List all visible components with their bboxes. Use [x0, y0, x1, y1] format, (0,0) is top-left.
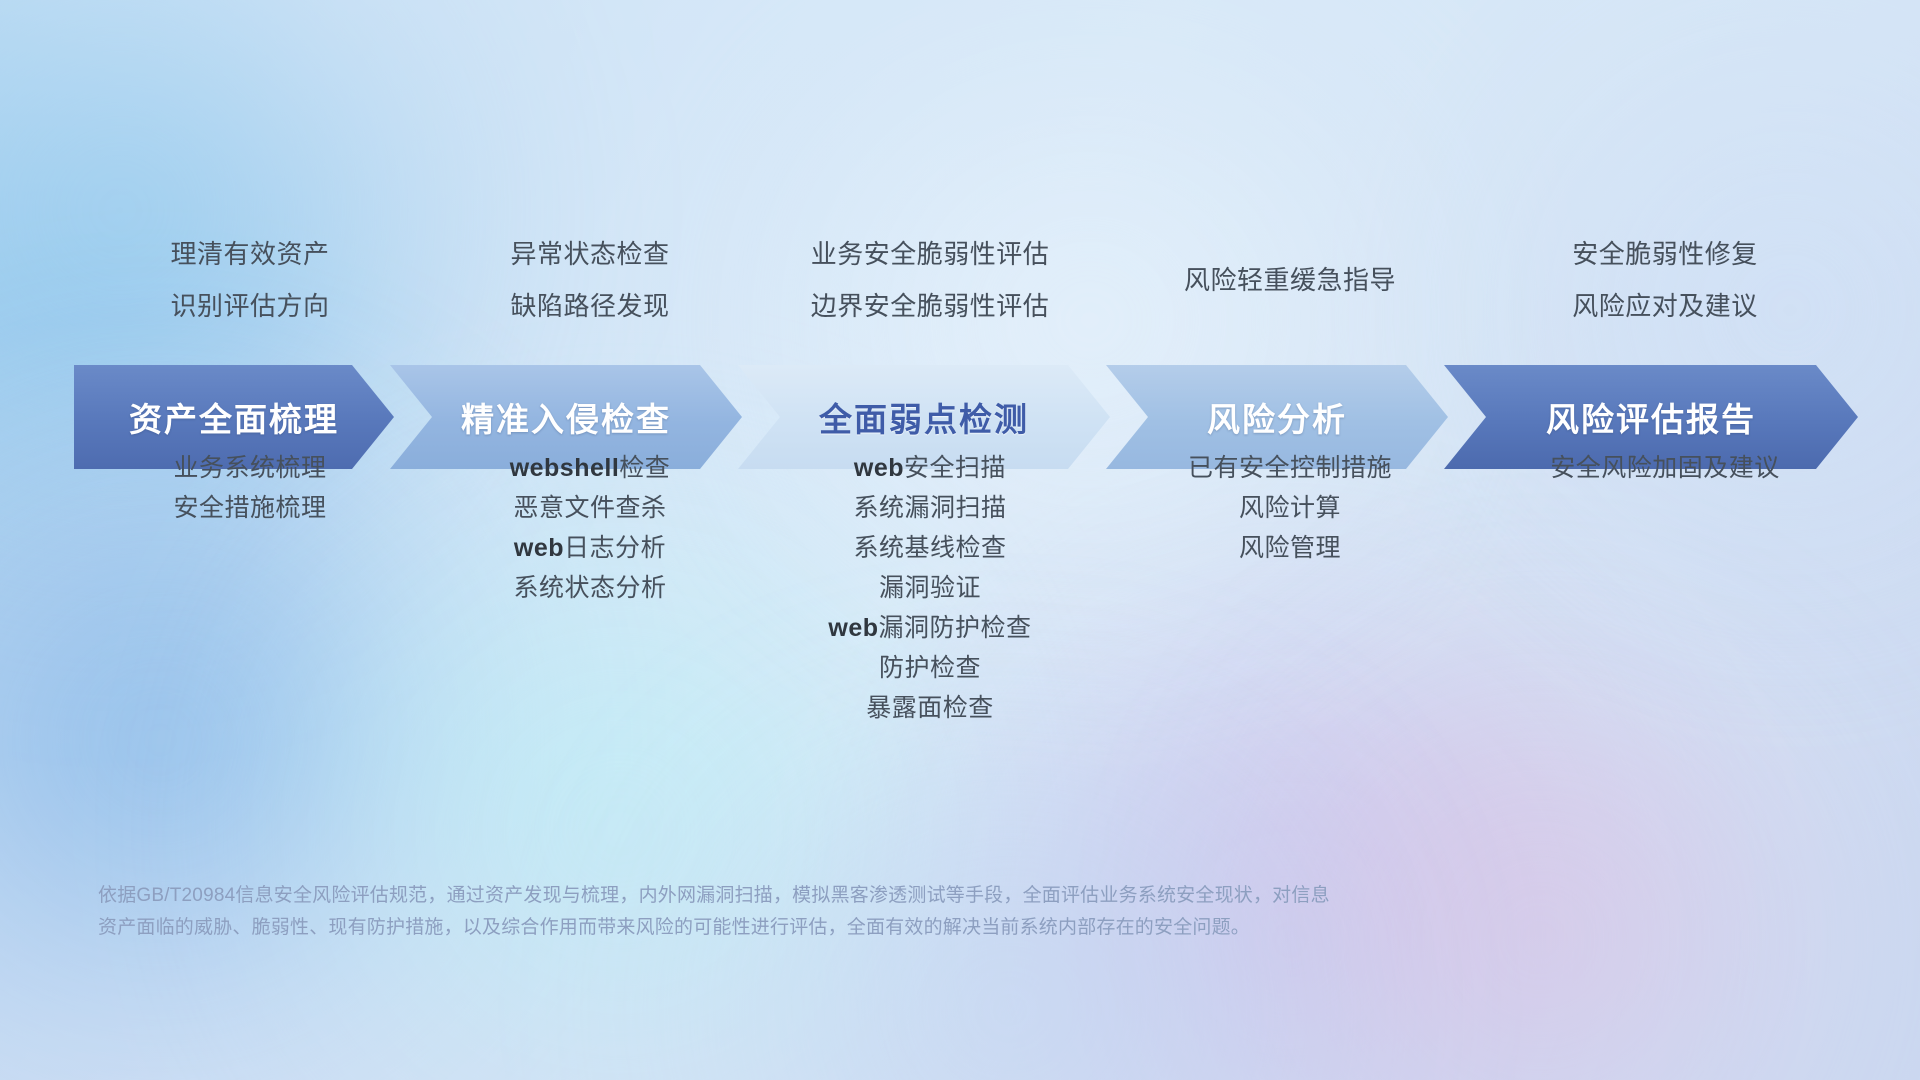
- activity-item-text: 已有安全控制措施: [1188, 454, 1392, 482]
- activity-item: 风险管理: [1110, 528, 1470, 568]
- activity-item: 已有安全控制措施: [1110, 448, 1470, 488]
- top-outcome-item: 边界安全脆弱性评估: [750, 280, 1110, 332]
- footer-description: 依据GB/T20984信息安全风险评估规范，通过资产发现与梳理，内外网漏洞扫描，…: [98, 880, 1658, 944]
- process-diagram: 理清有效资产 识别评估方向 异常状态检查 缺陷路径发现 业务安全脆弱性评估 边界…: [0, 0, 1920, 1080]
- activity-item: web日志分析: [430, 528, 750, 568]
- activity-item: 系统漏洞扫描: [750, 488, 1110, 528]
- activity-item: 系统基线检查: [750, 528, 1110, 568]
- bottom-activities-weakness-detection: web安全扫描系统漏洞扫描系统基线检查漏洞验证web漏洞防护检查防护检查暴露面检…: [750, 448, 1110, 728]
- top-outcome-item: 安全脆弱性修复: [1470, 228, 1860, 280]
- bottom-activities-asset-inventory: 业务系统梳理安全措施梳理: [70, 448, 430, 528]
- bottom-activities-row: 业务系统梳理安全措施梳理 webshell检查恶意文件查杀web日志分析系统状态…: [70, 448, 1860, 728]
- top-outcome-item: 缺陷路径发现: [430, 280, 750, 332]
- bottom-activities-intrusion-check: webshell检查恶意文件查杀web日志分析系统状态分析: [430, 448, 750, 608]
- activity-item-text: 日志分析: [564, 534, 666, 562]
- activity-item-text: 系统状态分析: [513, 574, 666, 602]
- top-outcomes-row: 理清有效资产 识别评估方向 异常状态检查 缺陷路径发现 业务安全脆弱性评估 边界…: [70, 228, 1860, 332]
- top-outcomes-weakness-detection: 业务安全脆弱性评估 边界安全脆弱性评估: [750, 228, 1110, 332]
- activity-item-text: 业务系统梳理: [173, 454, 326, 482]
- top-outcome-item: 风险应对及建议: [1470, 280, 1860, 332]
- activity-item-lead: web: [854, 454, 904, 482]
- footer-line: 依据GB/T20984信息安全风险评估规范，通过资产发现与梳理，内外网漏洞扫描，…: [98, 880, 1658, 912]
- activity-item: 风险计算: [1110, 488, 1470, 528]
- activity-item-lead: web: [514, 534, 564, 562]
- activity-item-lead: web: [828, 614, 878, 642]
- activity-item: 漏洞验证: [750, 568, 1110, 608]
- activity-item-text: 风险管理: [1239, 534, 1341, 562]
- activity-item: 恶意文件查杀: [430, 488, 750, 528]
- stage-title: 风险评估报告: [1546, 393, 1756, 441]
- activity-item: 暴露面检查: [750, 688, 1110, 728]
- stage-title: 全面弱点检测: [819, 393, 1029, 441]
- top-outcome-item: 风险轻重缓急指导: [1110, 254, 1470, 306]
- activity-item: webshell检查: [430, 448, 750, 488]
- activity-item: 业务系统梳理: [70, 448, 430, 488]
- activity-item-text: 恶意文件查杀: [513, 494, 666, 522]
- bottom-activities-assessment-report: 安全风险加固及建议: [1470, 448, 1860, 488]
- activity-item-text: 安全风险加固及建议: [1550, 454, 1780, 482]
- activity-item-text: 风险计算: [1239, 494, 1341, 522]
- top-outcomes-assessment-report: 安全脆弱性修复 风险应对及建议: [1470, 228, 1860, 332]
- stage-title: 风险分析: [1207, 393, 1347, 441]
- activity-item-text: 系统漏洞扫描: [853, 494, 1006, 522]
- top-outcomes-intrusion-check: 异常状态检查 缺陷路径发现: [430, 228, 750, 332]
- activity-item: 系统状态分析: [430, 568, 750, 608]
- activity-item-lead: webshell: [510, 454, 620, 482]
- top-outcome-item: 理清有效资产: [70, 228, 430, 280]
- activity-item-text: 漏洞验证: [879, 574, 981, 602]
- footer-line: 资产面临的威胁、脆弱性、现有防护措施，以及综合作用而带来风险的可能性进行评估，全…: [98, 912, 1658, 944]
- activity-item-text: 检查: [619, 454, 670, 482]
- bottom-activities-risk-analysis: 已有安全控制措施风险计算风险管理: [1110, 448, 1470, 568]
- activity-item-text: 安全扫描: [904, 454, 1006, 482]
- top-outcome-item: 异常状态检查: [430, 228, 750, 280]
- top-outcomes-risk-analysis: 风险轻重缓急指导: [1110, 228, 1470, 306]
- top-outcome-item: 识别评估方向: [70, 280, 430, 332]
- top-outcomes-asset-inventory: 理清有效资产 识别评估方向: [70, 228, 430, 332]
- activity-item-text: 防护检查: [879, 654, 981, 682]
- activity-item: 安全风险加固及建议: [1470, 448, 1860, 488]
- activity-item-text: 漏洞防护检查: [879, 614, 1032, 642]
- activity-item-text: 暴露面检查: [866, 694, 994, 722]
- activity-item: web漏洞防护检查: [750, 608, 1110, 648]
- activity-item: web安全扫描: [750, 448, 1110, 488]
- activity-item-text: 安全措施梳理: [173, 494, 326, 522]
- activity-item: 安全措施梳理: [70, 488, 430, 528]
- activity-item-text: 系统基线检查: [853, 534, 1006, 562]
- stage-title: 资产全面梳理: [129, 393, 339, 441]
- top-outcome-item: 业务安全脆弱性评估: [750, 228, 1110, 280]
- activity-item: 防护检查: [750, 648, 1110, 688]
- stage-title: 精准入侵检查: [461, 393, 671, 441]
